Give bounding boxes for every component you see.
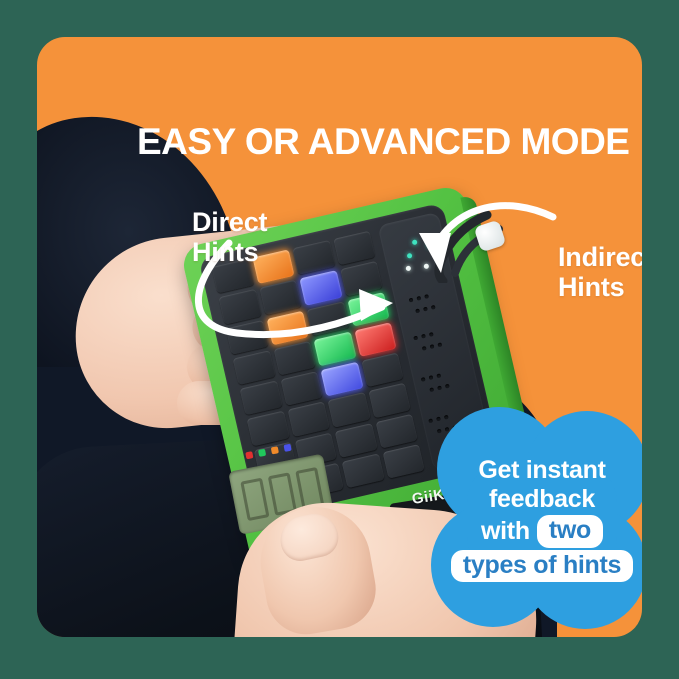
device-button xyxy=(226,320,269,355)
device-button-lit-blue xyxy=(299,270,342,305)
matrix-dot xyxy=(423,307,428,312)
matrix-dot xyxy=(415,308,420,313)
matrix-dot xyxy=(409,298,414,303)
device-button-lit-green xyxy=(347,292,390,327)
device-button xyxy=(382,444,425,479)
indirect-hints-line1: Indirect xyxy=(558,242,642,272)
led-teal-icon xyxy=(407,253,413,259)
page-title: EASY OR ADVANCED MODE xyxy=(137,121,630,163)
device-button xyxy=(361,352,404,387)
device-button-lit-indigo xyxy=(321,362,364,397)
device-button xyxy=(292,240,335,275)
indicator-red-icon xyxy=(245,451,253,459)
matrix-dot xyxy=(431,305,436,310)
device-button xyxy=(287,402,330,437)
direct-hints-label: Direct Hints xyxy=(192,207,267,267)
feedback-callout-badge: Get instant feedback with two types of h… xyxy=(427,407,642,632)
led-white-icon xyxy=(405,265,411,271)
matrix-dot xyxy=(429,387,434,392)
callout-pill-types-of-hints: types of hints xyxy=(451,550,633,583)
matrix-dot xyxy=(430,344,435,349)
direct-hints-line2: Hints xyxy=(192,237,267,267)
callout-text-block: Get instant feedback with two types of h… xyxy=(427,407,642,632)
device-button xyxy=(333,231,376,266)
device-button xyxy=(233,350,276,385)
lcd-digit xyxy=(240,478,269,521)
matrix-dot xyxy=(421,377,426,382)
matrix-dot xyxy=(445,384,450,389)
device-button xyxy=(306,301,349,336)
product-card-panel: GiiKER xyxy=(37,37,642,637)
direct-hints-line1: Direct xyxy=(192,207,267,237)
callout-line-3-prefix: with xyxy=(481,518,530,545)
device-button xyxy=(340,261,383,296)
device-button xyxy=(240,380,283,415)
matrix-dot xyxy=(424,294,429,299)
indicator-orange-icon xyxy=(271,446,279,454)
device-button xyxy=(328,392,371,427)
indirect-hints-line2: Hints xyxy=(558,272,642,302)
matrix-dot xyxy=(437,342,442,347)
matrix-dot xyxy=(421,334,426,339)
device-button xyxy=(247,411,290,446)
matrix-dot xyxy=(422,346,427,351)
indirect-hints-label: Indirect Hints xyxy=(558,242,642,302)
device-button xyxy=(219,289,262,324)
indicator-blue-icon xyxy=(284,444,292,452)
callout-line-1: Get instant xyxy=(478,457,605,484)
device-button xyxy=(273,341,316,376)
indicator-green-icon xyxy=(258,449,266,457)
outer-frame: GiiKER xyxy=(0,0,679,679)
matrix-dot xyxy=(429,375,434,380)
matrix-dot xyxy=(437,386,442,391)
matrix-dot xyxy=(436,373,441,378)
device-button xyxy=(375,413,418,448)
led-teal-icon xyxy=(412,239,418,245)
callout-pill-two: two xyxy=(537,515,603,548)
device-button xyxy=(368,383,411,418)
callout-line-4: types of hints xyxy=(451,550,633,583)
device-button xyxy=(342,453,385,488)
device-cable xyxy=(429,207,525,283)
device-button-lit-red xyxy=(354,322,397,357)
matrix-dot xyxy=(413,336,418,341)
device-button-lit-orange xyxy=(266,310,309,345)
callout-line-3: with two xyxy=(481,515,603,548)
device-button xyxy=(335,423,378,458)
callout-line-2: feedback xyxy=(489,486,595,513)
device-button xyxy=(259,280,302,315)
device-button-lit-green xyxy=(313,331,356,366)
device-button xyxy=(280,371,323,406)
matrix-dot xyxy=(429,332,434,337)
matrix-dot xyxy=(416,296,421,301)
